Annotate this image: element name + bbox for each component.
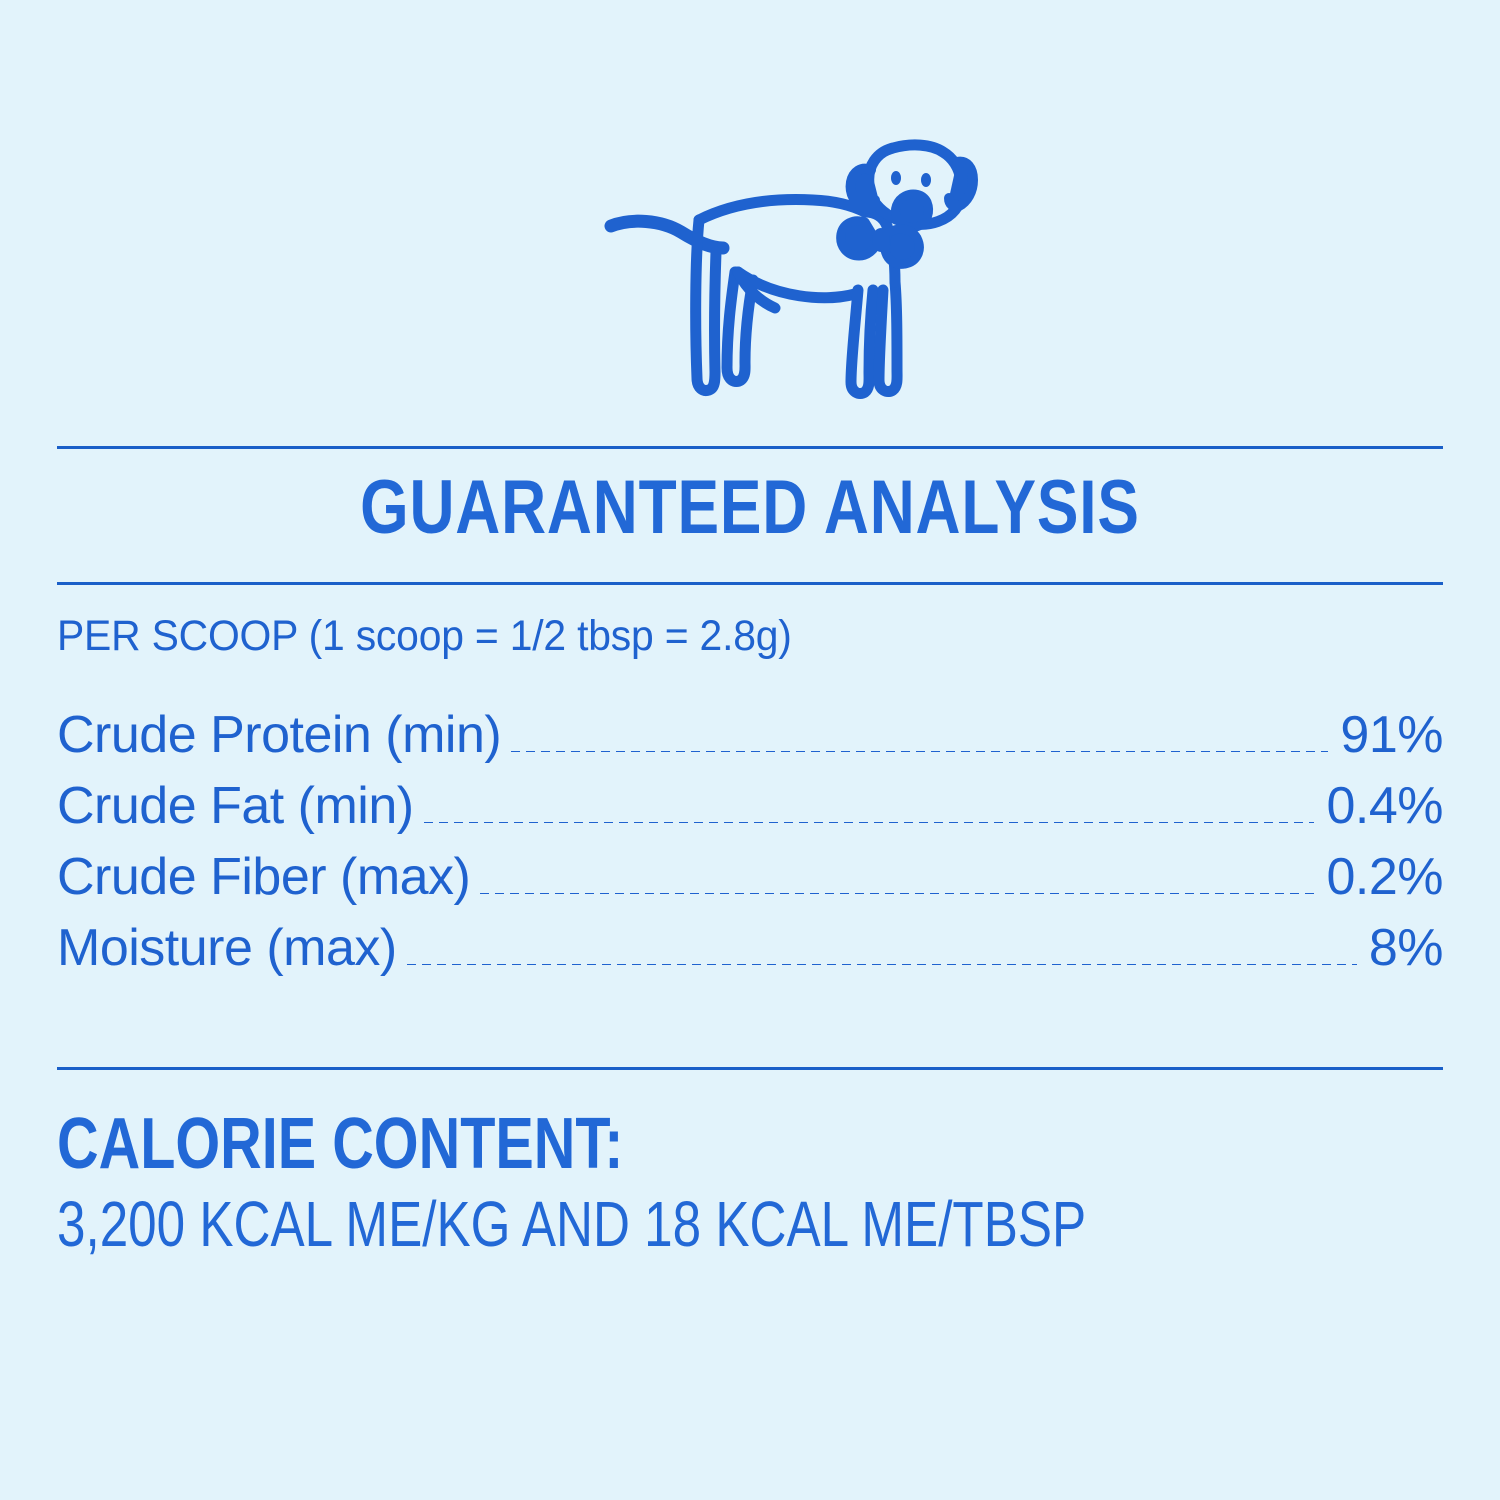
dot-leader [511,751,1328,752]
table-row: Crude Fat (min) 0.4% [57,776,1443,847]
calorie-content-block: CALORIE CONTENT: 3,200 KCAL ME/KG AND 18… [57,1108,1443,1256]
serving-size-note: PER SCOOP (1 scoop = 1/2 tbsp = 2.8g) [57,612,792,661]
divider-above-calories [57,1067,1443,1070]
nutrient-label: Crude Fat (min) [57,776,414,836]
nutrient-value: 0.4% [1326,776,1443,836]
nutrient-label: Moisture (max) [57,918,397,978]
dot-leader [407,964,1357,965]
nutrient-value: 91% [1340,705,1443,765]
table-row: Crude Protein (min) 91% [57,705,1443,776]
table-row: Moisture (max) 8% [57,918,1443,989]
page-title: GUARANTEED ANALYSIS [135,470,1365,546]
guaranteed-analysis-panel: GUARANTEED ANALYSIS PER SCOOP (1 scoop =… [0,0,1500,1500]
table-row: Crude Fiber (max) 0.2% [57,847,1443,918]
nutrient-table: Crude Protein (min) 91% Crude Fat (min) … [57,705,1443,989]
dog-with-bowtie-icon [575,130,995,420]
nutrient-value: 0.2% [1326,847,1443,907]
divider-top [57,446,1443,449]
calorie-content-heading: CALORIE CONTENT: [57,1108,1166,1180]
nutrient-value: 8% [1369,918,1443,978]
nutrient-label: Crude Protein (min) [57,705,501,765]
calorie-content-detail: 3,200 KCAL ME/KG AND 18 KCAL ME/TBSP [57,1192,1166,1256]
dot-leader [424,822,1315,823]
nutrient-label: Crude Fiber (max) [57,847,470,907]
divider-under-title [57,582,1443,585]
dot-leader [480,893,1314,894]
